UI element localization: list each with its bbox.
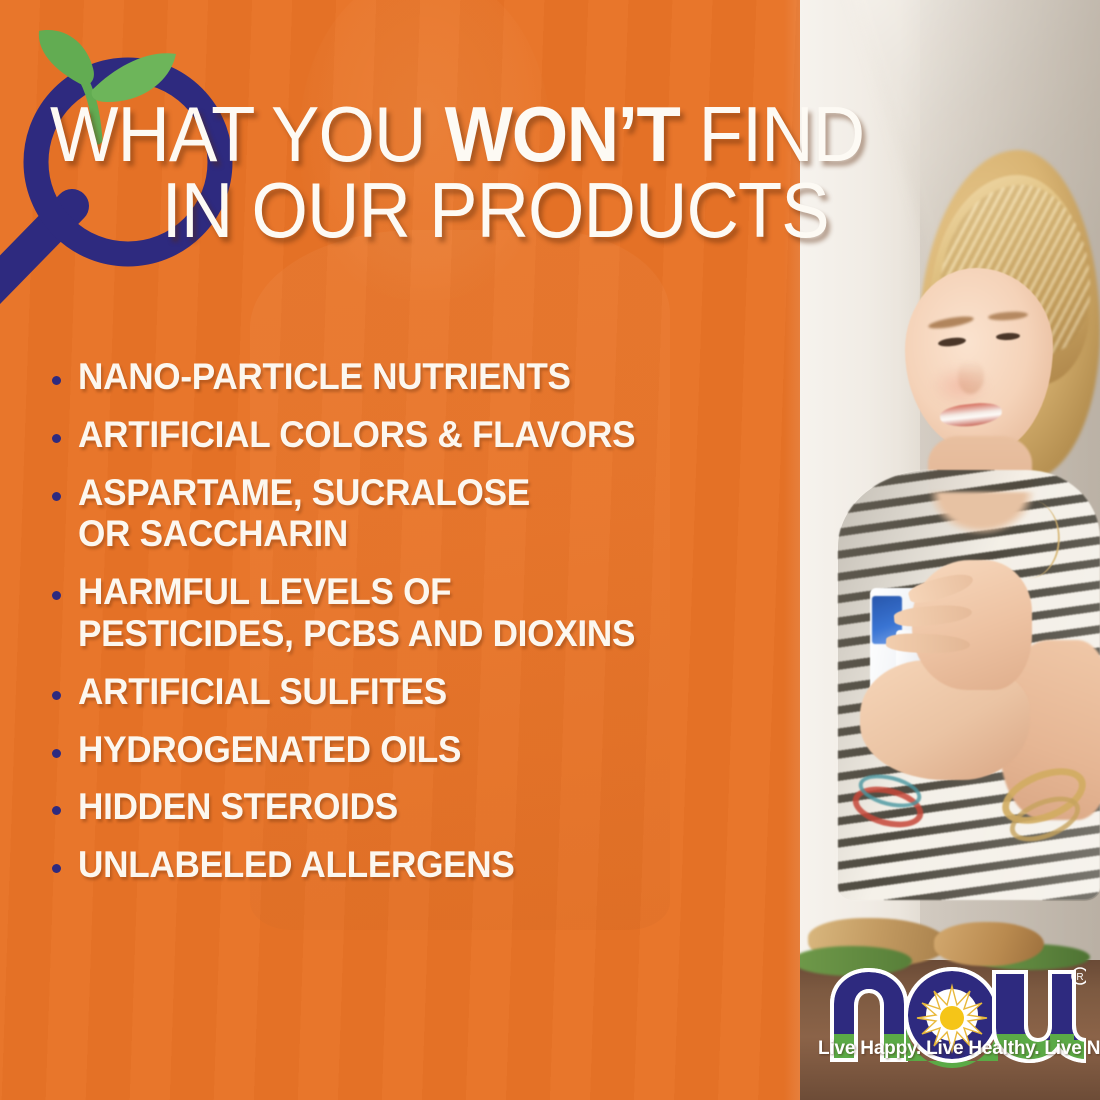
headline-line-2: IN OUR PRODUCTS [50, 172, 989, 248]
svg-text:R: R [1076, 972, 1083, 983]
list-item: NANO-PARTICLE NUTRIENTS [52, 356, 792, 398]
headline-line-1: WHAT YOU WON’T FIND [50, 96, 989, 172]
list-item: HIDDEN STEROIDS [52, 786, 792, 828]
list-item: HYDROGENATED OILS [52, 729, 792, 771]
list-item: UNLABELED ALLERGENS [52, 844, 792, 886]
bullet-dot-icon [52, 691, 61, 700]
list-item: HARMFUL LEVELS OF PESTICIDES, PCBS AND D… [52, 571, 792, 655]
exclusion-list: NANO-PARTICLE NUTRIENTS ARTIFICIAL COLOR… [52, 356, 792, 902]
list-item: ARTIFICIAL SULFITES [52, 671, 792, 713]
bullet-dot-icon [52, 864, 61, 873]
list-item-label: HYDROGENATED OILS [78, 729, 461, 771]
list-item-label: ARTIFICIAL SULFITES [78, 671, 447, 713]
brand-tagline: Live Happy. Live Healthy. Live NOW. [818, 1038, 1086, 1060]
list-item-label: HIDDEN STEROIDS [78, 786, 398, 828]
list-item: ARTIFICIAL COLORS & FLAVORS [52, 414, 792, 456]
list-item-label: HARMFUL LEVELS OF PESTICIDES, PCBS AND D… [78, 571, 635, 655]
headline-suffix: FIND [679, 90, 864, 178]
page-title: WHAT YOU WON’T FIND IN OUR PRODUCTS [50, 96, 989, 249]
list-item-label: ARTIFICIAL COLORS & FLAVORS [78, 414, 635, 456]
bullet-dot-icon [52, 376, 61, 385]
bullet-dot-icon [52, 806, 61, 815]
bullet-dot-icon [52, 749, 61, 758]
list-item-label: UNLABELED ALLERGENS [78, 844, 515, 886]
bullet-dot-icon [52, 492, 61, 501]
bullet-dot-icon [52, 434, 61, 443]
headline-prefix: WHAT YOU [50, 90, 445, 178]
list-item-label: ASPARTAME, SUCRALOSE OR SACCHARIN [78, 472, 530, 556]
list-item-label: NANO-PARTICLE NUTRIENTS [78, 356, 571, 398]
promo-poster: WHAT YOU WON’T FIND IN OUR PRODUCTS NANO… [0, 0, 1100, 1100]
bullet-dot-icon [52, 591, 61, 600]
headline-emphasis: WON’T [445, 90, 680, 178]
list-item: ASPARTAME, SUCRALOSE OR SACCHARIN [52, 472, 792, 556]
